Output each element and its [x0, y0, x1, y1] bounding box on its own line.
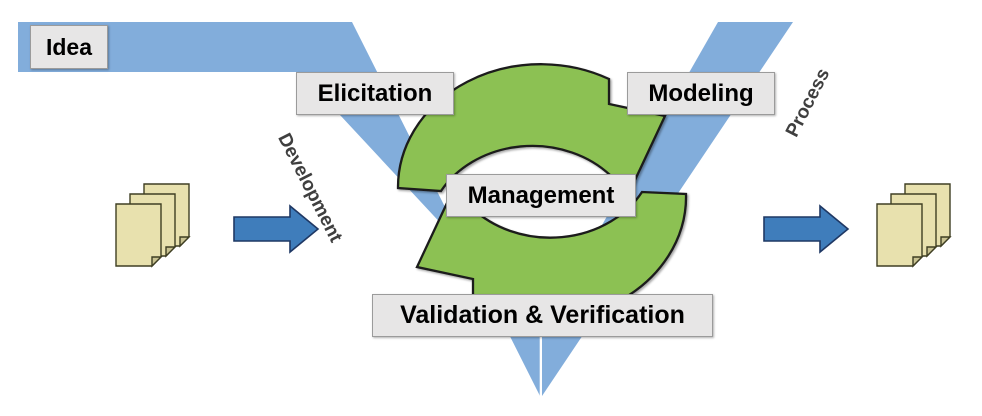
input-flow-arrow [234, 206, 318, 252]
document-page-front [877, 204, 922, 266]
stage-label-modeling[interactable]: Modeling [627, 72, 775, 115]
stage-label-management[interactable]: Management [446, 174, 636, 217]
document-page-front [116, 204, 161, 266]
stage-label-elicitation[interactable]: Elicitation [296, 72, 454, 115]
diagram-canvas: Development Process Idea Elicitation Mod… [0, 0, 982, 416]
output-flow-arrow [764, 206, 848, 252]
stage-label-idea[interactable]: Idea [30, 25, 108, 69]
stage-label-validation-verification[interactable]: Validation & Verification [372, 294, 713, 337]
input-document-stack [116, 184, 189, 266]
output-document-stack [877, 184, 950, 266]
